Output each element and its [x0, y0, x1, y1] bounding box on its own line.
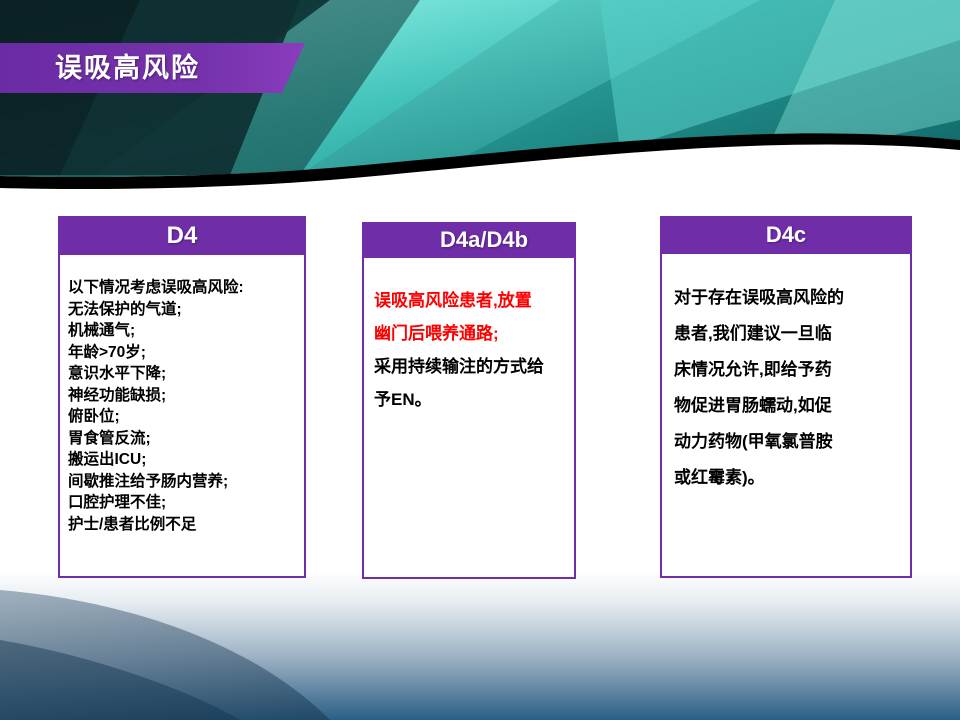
card-d4a-d4b-body: 误吸高风险患者,放置 幽门后喂养通路; 采用持续输注的方式给 予EN。 [362, 258, 576, 579]
card-d4-line-3: 机械通气; [68, 320, 304, 342]
card-d4: D4 以下情况考虑误吸高风险: 无法保护的气道; 机械通气; 年龄>70岁; 意… [58, 216, 306, 578]
card-d4-line-10: 间歇推注给予肠内营养; [68, 471, 304, 493]
card-d4a-d4b-line-2: 幽门后喂养通路; [374, 317, 564, 350]
card-d4-line-4: 年龄>70岁; [68, 342, 304, 364]
card-d4a-d4b-line-4: 予EN。 [374, 383, 564, 416]
card-d4a-d4b-header: D4a/D4b [362, 222, 576, 258]
card-d4a-d4b-line-3: 采用持续输注的方式给 [374, 350, 564, 383]
page-title: 误吸高风险 [55, 43, 200, 93]
card-d4-line-1: 以下情况考虑误吸高风险: [68, 277, 304, 299]
card-d4c-line-3: 床情况允许,即给予药 [674, 352, 900, 388]
card-d4-line-5: 意识水平下降; [68, 363, 304, 385]
card-d4c-body: 对于存在误吸高风险的 患者,我们建议一旦临 床情况允许,即给予药 物促进胃肠蠕动… [660, 254, 912, 578]
card-d4-line-6: 神经功能缺损; [68, 385, 304, 407]
card-d4c-line-4: 物促进胃肠蠕动,如促 [674, 388, 900, 424]
card-d4-body: 以下情况考虑误吸高风险: 无法保护的气道; 机械通气; 年龄>70岁; 意识水平… [58, 255, 306, 578]
card-d4c-line-1: 对于存在误吸高风险的 [674, 280, 900, 316]
card-d4c-line-2: 患者,我们建议一旦临 [674, 316, 900, 352]
card-d4-line-12: 护士/患者比例不足 [68, 514, 304, 536]
card-d4c-header: D4c [660, 216, 912, 254]
slide-canvas: 误吸高风险 D4 以下情况考虑误吸高风险: 无法保护的气道; 机械通气; 年龄>… [0, 0, 960, 720]
card-d4-line-7: 俯卧位; [68, 406, 304, 428]
card-d4-line-9: 搬运出ICU; [68, 449, 304, 471]
card-d4c-line-6: 或红霉素)。 [674, 460, 900, 496]
card-d4-line-2: 无法保护的气道; [68, 299, 304, 321]
card-d4a-d4b-line-1: 误吸高风险患者,放置 [374, 284, 564, 317]
card-d4-header: D4 [58, 216, 306, 255]
card-d4a-d4b: D4a/D4b 误吸高风险患者,放置 幽门后喂养通路; 采用持续输注的方式给 予… [362, 222, 576, 579]
card-d4c: D4c 对于存在误吸高风险的 患者,我们建议一旦临 床情况允许,即给予药 物促进… [660, 216, 912, 578]
card-d4-line-8: 胃食管反流; [68, 428, 304, 450]
card-d4c-line-5: 动力药物(甲氧氯普胺 [674, 424, 900, 460]
slide-title-banner: 误吸高风险 [0, 43, 305, 93]
card-d4-line-11: 口腔护理不佳; [68, 492, 304, 514]
